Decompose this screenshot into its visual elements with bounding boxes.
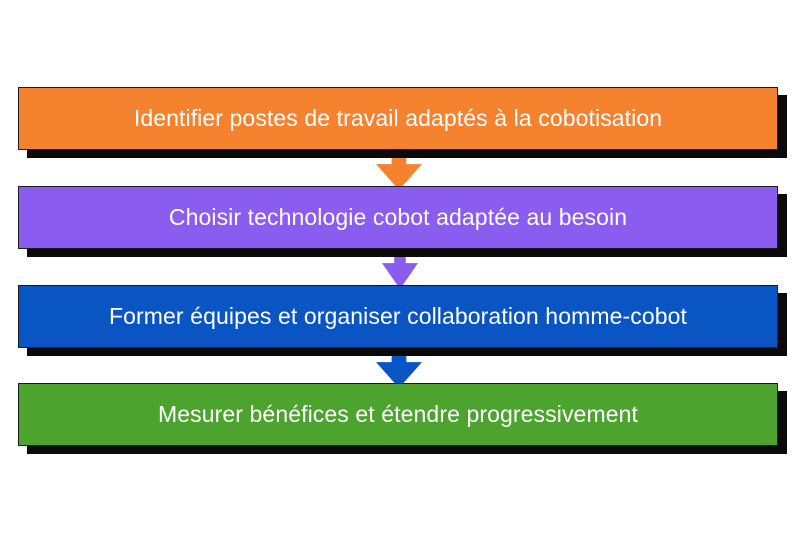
process-step-4-label: Mesurer bénéfices et étendre progressive… bbox=[148, 402, 648, 427]
process-step-2-label: Choisir technologie cobot adaptée au bes… bbox=[159, 205, 637, 230]
flowchart-diagram: Identifier postes de travail adaptés à l… bbox=[0, 0, 800, 533]
process-step-3-label: Former équipes et organiser collaboratio… bbox=[99, 304, 697, 329]
process-step-1[interactable]: Identifier postes de travail adaptés à l… bbox=[18, 87, 778, 150]
process-step-3[interactable]: Former équipes et organiser collaboratio… bbox=[18, 285, 778, 348]
process-step-1-label: Identifier postes de travail adaptés à l… bbox=[124, 106, 672, 131]
process-step-4[interactable]: Mesurer bénéfices et étendre progressive… bbox=[18, 383, 778, 446]
process-step-2[interactable]: Choisir technologie cobot adaptée au bes… bbox=[18, 186, 778, 249]
